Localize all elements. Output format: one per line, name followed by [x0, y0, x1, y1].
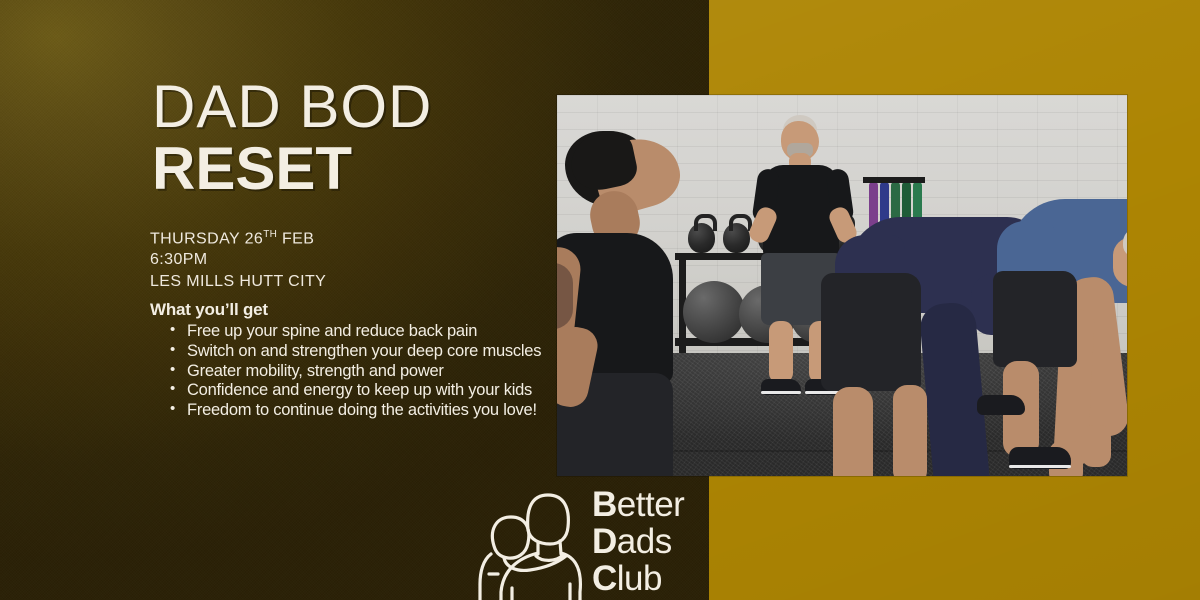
headline-block: DAD BOD RESET	[152, 78, 552, 199]
event-date-ordinal: TH	[263, 229, 277, 240]
headline-line-2: RESET	[152, 138, 552, 199]
logo-cap-c: C	[592, 559, 617, 598]
benefit-item: Switch on and strengthen your deep core …	[150, 342, 550, 362]
benefits-list: Free up your spine and reduce back pain …	[150, 322, 550, 421]
logo-rest-lub: lub	[617, 559, 662, 598]
better-dads-club-logo: Better Dads Club	[476, 484, 716, 600]
benefit-item: Freedom to continue doing the activities…	[150, 401, 550, 421]
headline-line-1: DAD BOD	[152, 78, 552, 135]
benefit-item: Free up your spine and reduce back pain	[150, 322, 550, 342]
logo-cap-d: D	[592, 522, 617, 561]
logo-rest-etter: etter	[617, 485, 685, 524]
logo-line-better: Better	[592, 486, 684, 523]
benefits-section: What you’ll get Free up your spine and r…	[150, 300, 550, 421]
event-venue: LES MILLS HUTT CITY	[150, 271, 530, 292]
logo-line-dads: Dads	[592, 523, 684, 560]
benefit-item: Confidence and energy to keep up with yo…	[150, 381, 550, 401]
logo-wordmark: Better Dads Club	[592, 486, 684, 597]
event-details: THURSDAY 26TH FEB 6:30PM LES MILLS HUTT …	[150, 228, 530, 292]
logo-rest-ads: ads	[617, 522, 672, 561]
event-date-day: THURSDAY 26	[150, 230, 263, 247]
benefit-item: Greater mobility, strength and power	[150, 362, 550, 382]
logo-line-club: Club	[592, 560, 684, 597]
gym-stretching-photo	[557, 95, 1127, 476]
event-time: 6:30PM	[150, 249, 530, 270]
benefits-heading: What you’ll get	[150, 300, 550, 320]
event-date-month: FEB	[277, 230, 314, 247]
event-date: THURSDAY 26TH FEB	[150, 228, 530, 249]
father-and-child-outline-icon	[476, 484, 584, 600]
logo-cap-b: B	[592, 485, 617, 524]
event-poster: DAD BOD RESET THURSDAY 26TH FEB 6:30PM L…	[0, 0, 1200, 600]
